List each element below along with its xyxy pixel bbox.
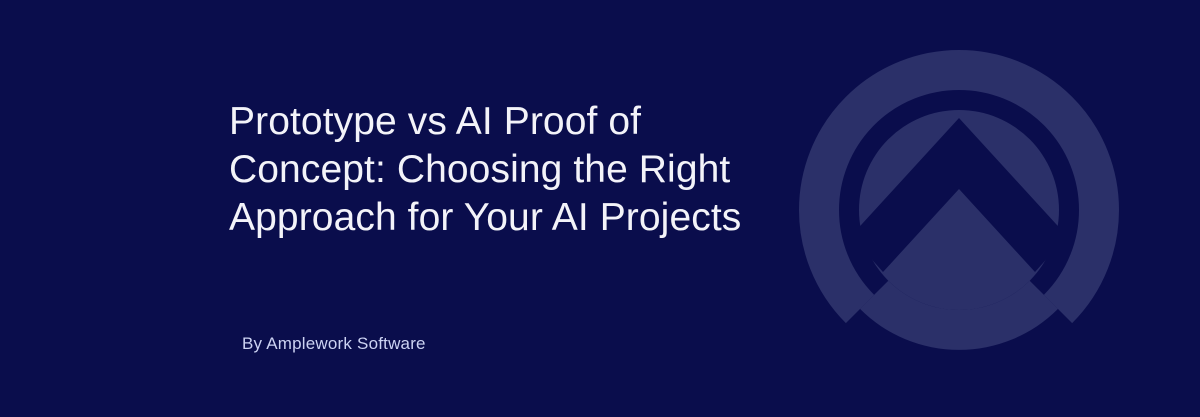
blog-hero-banner: Prototype vs AI Proof of Concept: Choosi… [0,0,1200,417]
page-title: Prototype vs AI Proof of Concept: Choosi… [229,98,749,242]
hero-text-block: Prototype vs AI Proof of Concept: Choosi… [229,98,749,242]
amplework-logo-watermark [799,50,1119,370]
outer-ring-bottom-arc [860,281,1058,350]
byline: By Amplework Software [242,333,426,355]
outer-ring-arc [819,70,1099,350]
inner-disc [859,110,1059,310]
